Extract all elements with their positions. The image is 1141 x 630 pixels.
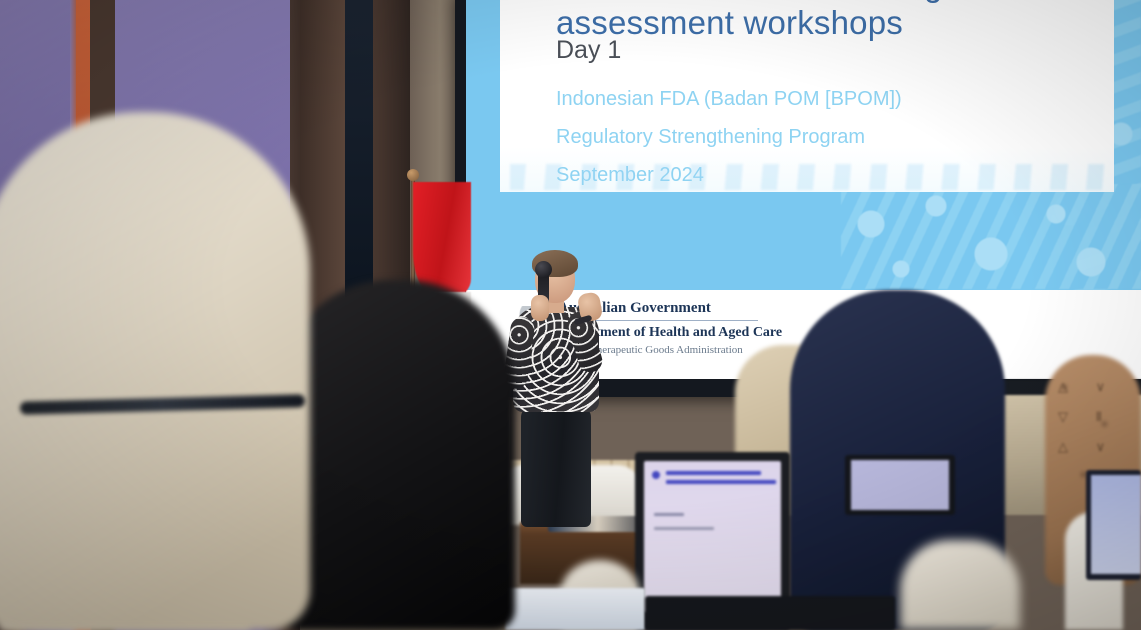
laptop-mid-right (845, 455, 955, 515)
laptop-screen-bullet (652, 471, 660, 479)
presenter (505, 255, 610, 525)
laptop-far-right (1086, 470, 1141, 580)
slide-pattern-band (841, 184, 1141, 289)
logo-line-tga: Therapeutic Goods Administration (590, 344, 743, 356)
foreground-object-right (900, 540, 1020, 630)
flag-red-band (413, 182, 471, 297)
laptop-screen-line-4 (654, 527, 714, 530)
laptop-far-right-screen (1091, 475, 1141, 574)
slide-content-card: Active Pharmaceutical Ingredient assessm… (500, 0, 1114, 192)
slide-subtitle-lines: Indonesian FDA (Badan POM [BPOM]) Regula… (556, 80, 1101, 194)
slide-line-org: Indonesian FDA (Badan POM [BPOM]) (556, 80, 1101, 118)
laptop-mid-right-screen (851, 460, 949, 510)
presenter-hand-mic (531, 295, 549, 321)
slide-day-label: Day 1 (556, 36, 621, 65)
laptop-foreground-body (645, 596, 895, 630)
laptop-screen-line-2 (666, 480, 776, 484)
laptop-center-screen (644, 461, 781, 612)
slide-title: Active Pharmaceutical Ingredient assessm… (556, 0, 1116, 42)
presenter-trousers (521, 407, 591, 527)
slide-line-date: September 2024 (556, 156, 1101, 194)
attendee-black-hijab-foreground (280, 280, 515, 630)
conference-photo-scene: Active Pharmaceutical Ingredient assessm… (0, 0, 1141, 630)
laptop-screen-line-3 (654, 513, 684, 516)
attendee-cream-hijab-foreground (0, 112, 310, 630)
laptop-foreground-screen (505, 588, 645, 630)
laptop-screen-line-1 (666, 471, 761, 475)
flag-finial (407, 169, 419, 181)
slide-line-program: Regulatory Strengthening Program (556, 118, 1101, 156)
screen-side-wall (345, 0, 373, 300)
